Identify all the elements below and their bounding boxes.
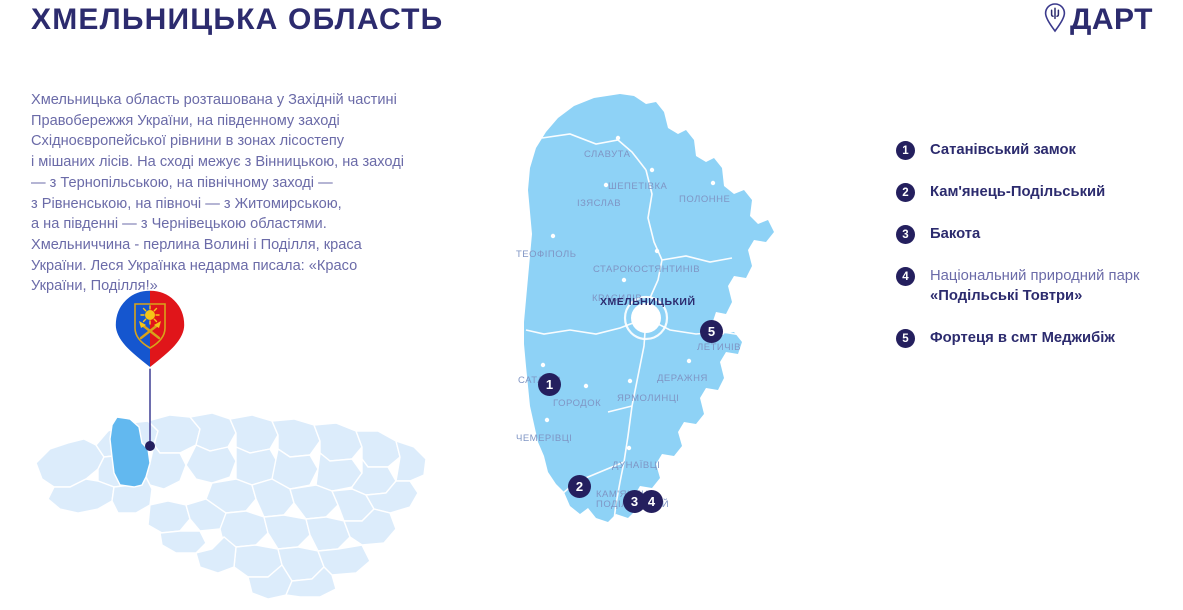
legend-label-line2: «Подільські Товтри» [930, 286, 1140, 306]
intro-line: і мішаних лісів. На сході межує з Вінниц… [31, 152, 471, 173]
legend-item-4[interactable]: 4Національний природний парк«Подільські … [896, 266, 1183, 306]
city-label: ПОЛОННЕ [679, 194, 730, 205]
city-label: ГОРОДОК [553, 398, 601, 409]
legend-label: Кам'янець-Подільський [930, 182, 1105, 202]
legend-item-5[interactable]: 5Фортеця в смт Меджибіж [896, 328, 1183, 348]
city-label: СТАРОКОСТЯНТИНІВ [593, 264, 700, 275]
brand-logo: ДАРТ [1042, 0, 1153, 40]
city-label: СЛАВУТА [584, 149, 631, 160]
page-title: ХМЕЛЬНИЦЬКА ОБЛАСТЬ [31, 0, 443, 40]
intro-line: Хмельниччина - перлина Волині і Поділля,… [31, 235, 471, 256]
map-marker-2[interactable]: 2 [568, 475, 591, 498]
city-label: ДЕРАЖНЯ [657, 373, 708, 384]
khmelnytskyi-oblast-map: СЛАВУТАШЕПЕТІВКАПОЛОННЕІЗЯСЛАВТЕОФІПОЛЬС… [500, 90, 790, 535]
intro-line: Хмельницька область розташована у Західн… [31, 90, 471, 111]
legend-badge-1: 1 [896, 141, 915, 160]
ukraine-outline-map [0, 401, 440, 606]
city-label: ДУНАЇВЦІ [612, 460, 660, 471]
legend-label: Бакота [930, 224, 980, 244]
intro-line: України. Леся Українка недарма писала: «… [31, 256, 471, 277]
intro-paragraph: Хмельницька область розташована у Західн… [31, 90, 471, 297]
intro-line: а на південні — з Чернівецькою областями… [31, 214, 471, 235]
map-marker-5[interactable]: 5 [700, 320, 723, 343]
legend-badge-5: 5 [896, 329, 915, 348]
oblast-labels-layer: СЛАВУТАШЕПЕТІВКАПОЛОННЕІЗЯСЛАВТЕОФІПОЛЬС… [500, 90, 790, 535]
legend-item-1[interactable]: 1Сатанівський замок [896, 140, 1183, 160]
coat-of-arms-pin [95, 280, 205, 460]
map-marker-1[interactable]: 1 [538, 373, 561, 396]
legend-badge-3: 3 [896, 225, 915, 244]
legend-item-3[interactable]: 3Бакота [896, 224, 1183, 244]
legend-label: Національний природний парк«Подільські Т… [930, 266, 1140, 306]
intro-line: з Рівненською, на півночі — з Житомирськ… [31, 194, 471, 215]
locator-group [0, 280, 460, 610]
brand-text: ДАРТ [1070, 3, 1153, 37]
city-label: ЛЕТИЧІВ [697, 342, 741, 353]
city-label: ШЕПЕТІВКА [608, 181, 667, 192]
legend-list: 1Сатанівський замок2Кам'янець-Подільськи… [896, 140, 1183, 370]
legend-badge-2: 2 [896, 183, 915, 202]
legend-label: Фортеця в смт Меджибіж [930, 328, 1115, 348]
map-pin-trident-icon [1042, 1, 1068, 40]
intro-line: — з Тернопільською, на північному заході… [31, 173, 471, 194]
legend-badge-4: 4 [896, 267, 915, 286]
city-label: ІЗЯСЛАВ [577, 198, 621, 209]
city-label: ТЕОФІПОЛЬ [516, 249, 576, 260]
capital-label: ХМЕЛЬНИЦЬКИЙ [600, 296, 696, 308]
city-label: ЯРМОЛИНЦІ [617, 393, 679, 404]
legend-item-2[interactable]: 2Кам'янець-Подільський [896, 182, 1183, 202]
city-label: ЧЕМЕРІВЦІ [516, 433, 572, 444]
intro-line: Східноєвропейської рівнини в зонах лісос… [31, 131, 471, 152]
legend-label-line1: Національний природний парк [930, 266, 1140, 286]
map-marker-4[interactable]: 4 [640, 490, 663, 513]
intro-line: Правобережжя України, на південному захо… [31, 111, 471, 132]
legend-label: Сатанівський замок [930, 140, 1076, 160]
